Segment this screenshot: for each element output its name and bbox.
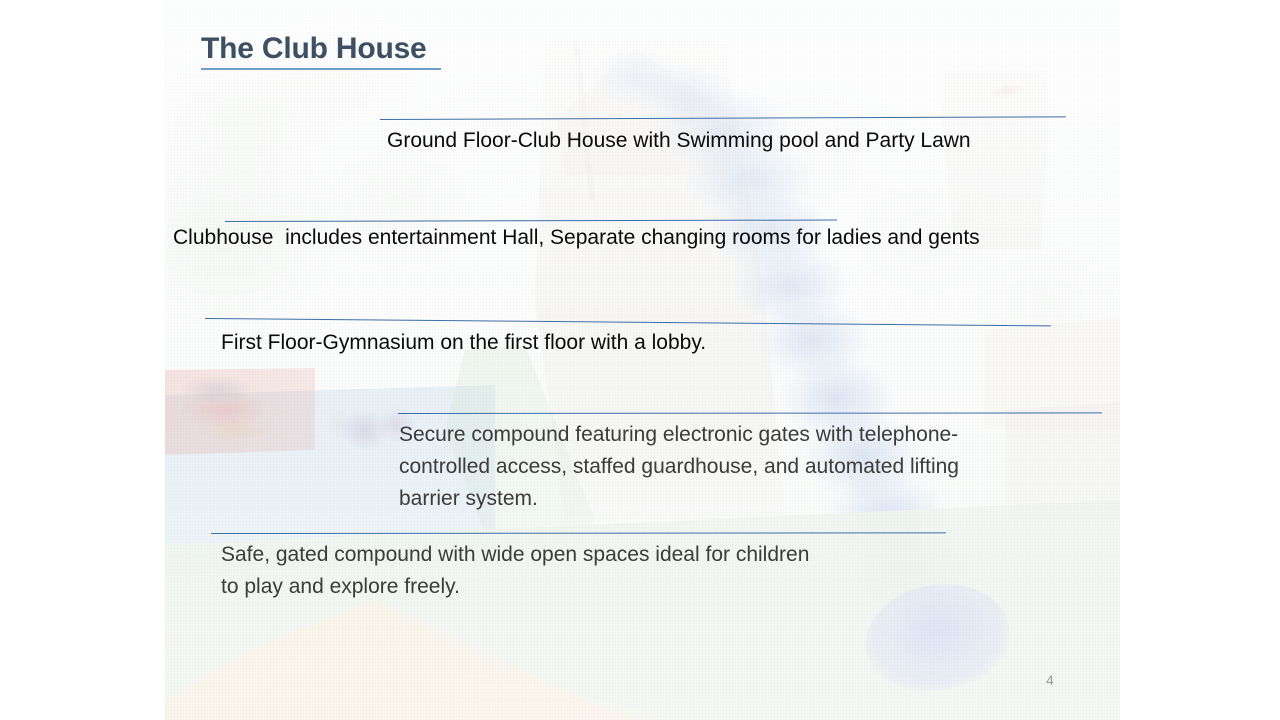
page-title: The Club House: [201, 32, 427, 66]
divider-line-4: [398, 412, 1102, 414]
slide-canvas: The Club House Ground Floor-Club House w…: [0, 0, 1280, 720]
bullet-text-secure-compound-line-3: barrier system.: [399, 483, 538, 515]
page-number: 4: [1046, 672, 1054, 688]
bullet-text-first-floor: First Floor-Gymnasium on the first floor…: [221, 327, 706, 359]
divider-line-5: [211, 532, 946, 534]
slide-content: The Club House Ground Floor-Club House w…: [0, 0, 1280, 720]
divider-line-1: [380, 116, 1066, 120]
divider-line-3: [205, 318, 1051, 326]
bullet-text-secure-compound-line-1: Secure compound featuring electronic gat…: [399, 419, 958, 451]
bullet-text-ground-floor: Ground Floor-Club House with Swimming po…: [387, 125, 971, 157]
bullet-text-safe-gated-line-1: Safe, gated compound with wide open spac…: [221, 539, 809, 571]
bullet-text-secure-compound-line-2: controlled access, staffed guardhouse, a…: [399, 451, 959, 483]
bullet-text-safe-gated-line-2: to play and explore freely.: [221, 571, 460, 603]
title-underline: [201, 68, 441, 70]
bullet-text-clubhouse-facilities: Clubhouse includes entertainment Hall, S…: [173, 222, 980, 254]
